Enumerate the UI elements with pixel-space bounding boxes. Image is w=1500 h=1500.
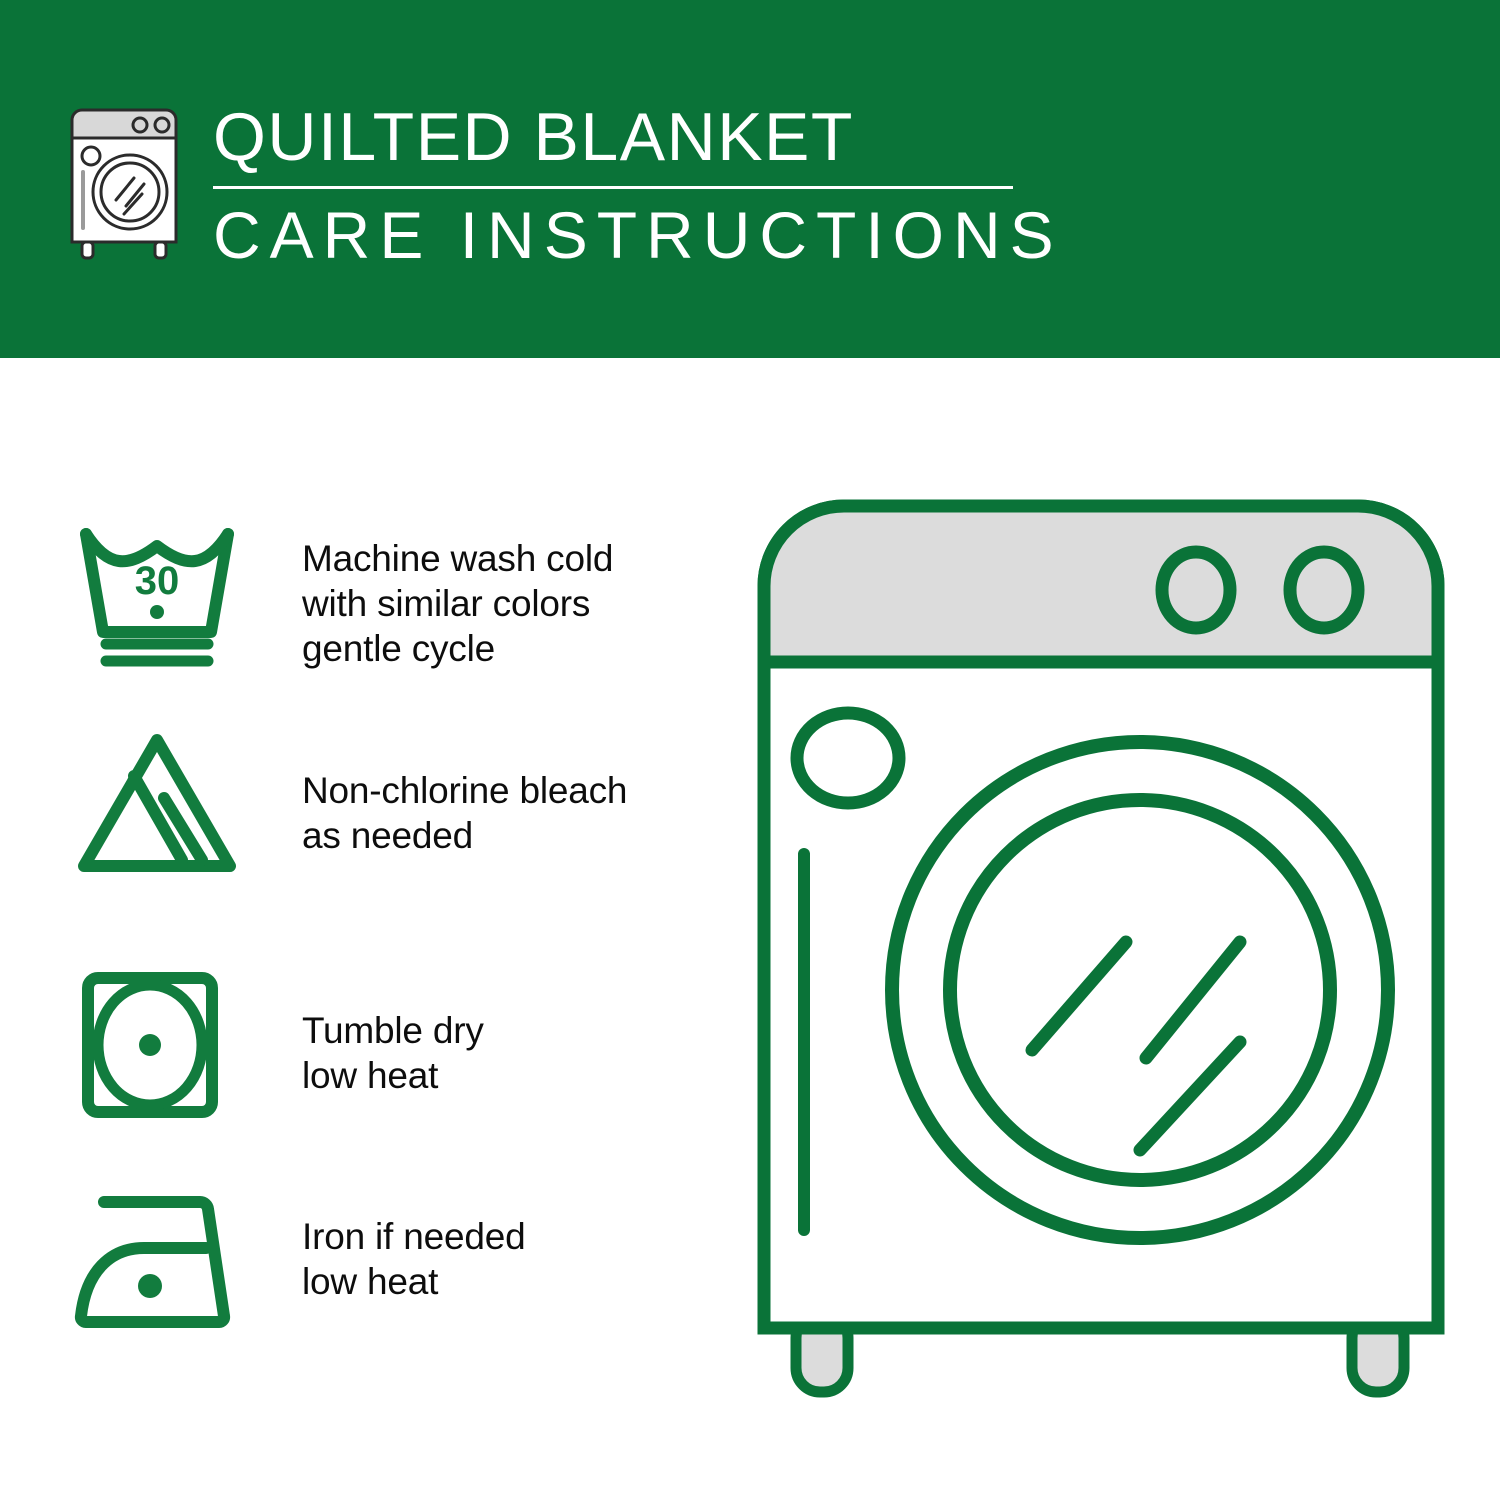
iron-low-heat-icon	[72, 1186, 242, 1336]
page-subtitle: CARE INSTRUCTIONS	[213, 197, 1023, 273]
machine-wash-tub-icon: 30	[72, 520, 242, 670]
care-text-wash: Machine wash cold with similar colors ge…	[302, 536, 613, 671]
washing-machine-illustration	[748, 490, 1454, 1415]
knob-left	[1162, 552, 1230, 628]
header-text-block: QUILTED BLANKET CARE INSTRUCTIONS	[213, 100, 1023, 273]
detergent-dispenser	[797, 713, 899, 803]
wash-temperature-label: 30	[135, 559, 180, 603]
drum-inner	[950, 800, 1330, 1180]
header-banner: QUILTED BLANKET CARE INSTRUCTIONS	[0, 0, 1500, 358]
care-instruction-list: 30 Machine wash cold with similar colors…	[0, 358, 720, 1500]
tumble-dry-low-icon	[72, 970, 242, 1120]
knob-right	[1290, 552, 1358, 628]
page-title: QUILTED BLANKET	[213, 100, 1023, 174]
care-instructions-infographic: QUILTED BLANKET CARE INSTRUCTIONS 30 Mac…	[0, 0, 1500, 1500]
washing-machine-icon	[62, 104, 192, 264]
non-chlorine-bleach-triangle-icon	[72, 730, 242, 880]
care-text-tumble-dry: Tumble dry low heat	[302, 1008, 484, 1098]
care-text-bleach: Non-chlorine bleach as needed	[302, 768, 627, 858]
care-text-iron: Iron if needed low heat	[302, 1214, 525, 1304]
title-divider	[213, 186, 1013, 189]
